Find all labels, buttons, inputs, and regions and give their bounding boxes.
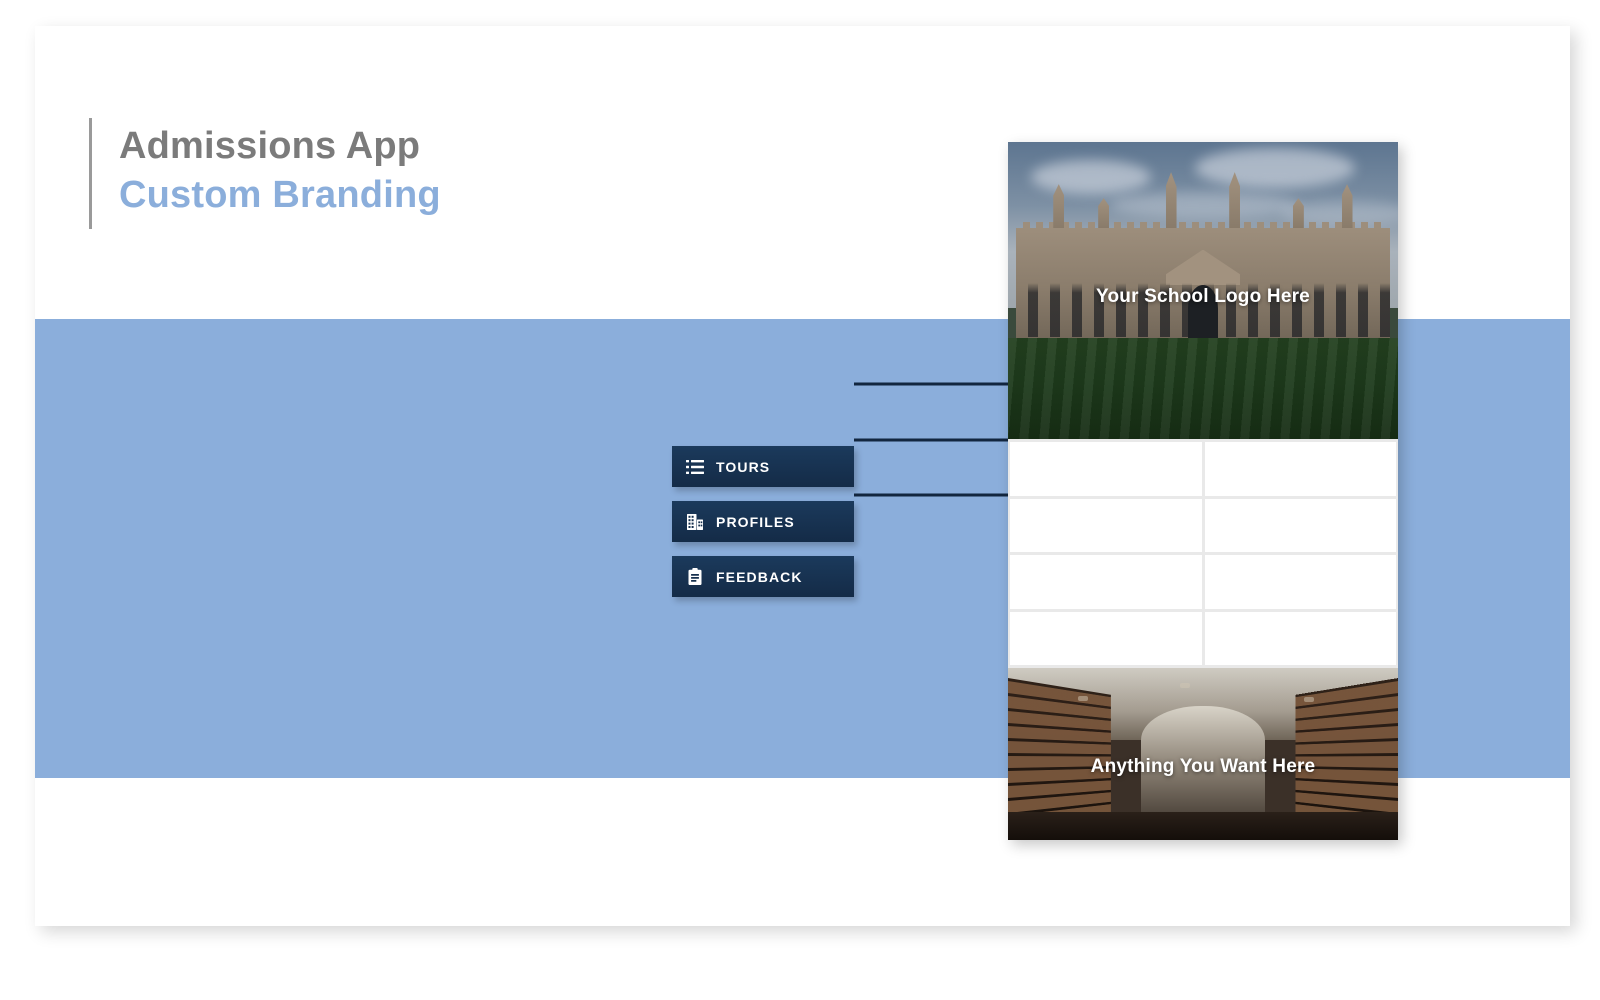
nav-button-group: TOURS	[672, 446, 862, 611]
nav-button-tours[interactable]: TOURS	[672, 446, 854, 487]
app-mockup: Your School Logo Here	[1008, 142, 1398, 840]
nav-button-label: FEEDBACK	[716, 569, 803, 585]
building-icon	[686, 513, 704, 531]
grid-tile[interactable]	[1010, 612, 1202, 666]
nav-button-feedback[interactable]: FEEDBACK	[672, 556, 854, 597]
title-block: Admissions App Custom Branding	[89, 118, 441, 229]
mockup-footer-image: Anything You Want Here	[1008, 668, 1398, 840]
title-accent-bar	[89, 118, 92, 229]
clipboard-icon	[686, 568, 704, 586]
grid-tile[interactable]	[1205, 499, 1397, 553]
grid-tile[interactable]	[1010, 499, 1202, 553]
nav-button-label: TOURS	[716, 459, 770, 475]
presentation-slide: Admissions App Custom Branding	[35, 26, 1570, 926]
ceiling-lamp	[1180, 683, 1190, 688]
ceiling-lamp	[1304, 697, 1314, 702]
cloud	[1031, 160, 1151, 194]
page-title: Admissions App	[119, 122, 441, 171]
page-subtitle: Custom Branding	[119, 171, 441, 220]
mockup-hero-image: Your School Logo Here	[1008, 142, 1398, 439]
screenshot-root: Admissions App Custom Branding	[0, 0, 1600, 1000]
nav-button-profiles[interactable]: PROFILES	[672, 501, 854, 542]
grid-tile[interactable]	[1205, 612, 1397, 666]
grid-tile[interactable]	[1205, 555, 1397, 609]
lawn-stripes	[1008, 338, 1398, 439]
pediment	[1166, 250, 1241, 286]
ceiling-lamp	[1078, 696, 1088, 701]
footer-caption: Anything You Want Here	[1008, 756, 1398, 778]
crenellation	[1023, 222, 1382, 229]
grid-tile[interactable]	[1205, 442, 1397, 496]
grid-tile[interactable]	[1010, 555, 1202, 609]
library-floor	[1008, 812, 1398, 840]
list-icon	[686, 458, 704, 476]
nav-button-label: PROFILES	[716, 514, 795, 530]
hero-caption: Your School Logo Here	[1008, 286, 1398, 308]
grid-tile[interactable]	[1010, 442, 1202, 496]
cloud	[1195, 148, 1355, 188]
mockup-tile-grid	[1008, 439, 1398, 668]
title-text-group: Admissions App Custom Branding	[119, 118, 441, 229]
